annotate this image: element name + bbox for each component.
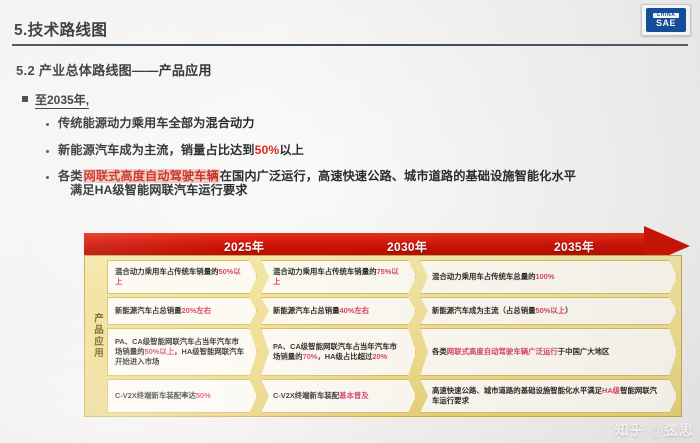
list-item: 新能源汽车成为主流，销量占比达到50%以上 <box>46 142 682 160</box>
timeline-year-2030: 2030年 <box>387 238 427 255</box>
table-cell-r3c3: 各类网联式高度自动驾驶车辆广泛运行于中国广大地区 <box>420 328 677 376</box>
table-cell-r3c2: PA、CA级智能网联汽车占当年汽车市场销量的70%，HA级占比超过20% <box>261 328 416 376</box>
r1c2-pre: 混合动力乘用车占传统车销量的 <box>273 267 376 276</box>
watermark: 知乎 @弦思 <box>614 420 694 440</box>
table-cell-r2c1: 新能源汽车占总销量20%左右 <box>107 297 257 325</box>
r4c3-pre: 高速快速公路、城市道路的基础设施智能化水平满足 <box>432 386 602 395</box>
r1c1-pre: 混合动力乘用车占传统车销量的 <box>115 267 218 276</box>
roadmap-panel: 产品应用 混合动力乘用车占传统车销量的50%以上 混合动力乘用车占传统车销量的7… <box>84 255 682 417</box>
list-item: 传统能源动力乘用车全部为混合动力 <box>46 115 682 133</box>
list-item: 各类网联式高度自动驾驶车辆在国内广泛运行，高速快速公路、城市道路的基础设施智能化… <box>46 168 682 199</box>
bullet-1-pre: 传统能源动力乘用车全部为混合动力 <box>58 116 255 130</box>
r2c2-hl: 40%左右 <box>340 306 370 315</box>
timeline-year-2035: 2035年 <box>554 238 594 255</box>
bullet-text-3: 各类网联式高度自动驾驶车辆在国内广泛运行，高速快速公路、城市道路的基础设施智能化… <box>58 168 576 199</box>
r4c1-pre: C-V2X终端新车装配率达 <box>115 391 196 400</box>
logo-top-text: CHINA <box>653 13 679 18</box>
table-cell-r3c1: PA、CA级智能网联汽车占当年汽车市场销量的50%以上，HA级智能网联汽车开始进… <box>107 328 257 376</box>
square-bullet-icon <box>22 96 28 102</box>
r3c2-hl: 70% <box>303 352 318 361</box>
page-title: 5.技术路线图 <box>14 18 107 40</box>
dot-bullet-icon <box>46 176 49 179</box>
table-cell-r1c1: 混合动力乘用车占传统车销量的50%以上 <box>107 260 257 294</box>
r3c3-pre: 各类 <box>432 347 447 356</box>
r3c3-post: 于中国广大地区 <box>558 347 610 356</box>
r3c3-hl: 网联式高度自动驾驶车辆广泛运行 <box>447 347 558 356</box>
lead-bullet-label: 至2035年, <box>35 91 89 109</box>
r1c3-pre: 混合动力乘用车占传统车总量的 <box>432 272 535 281</box>
r4c2-hl: 基本普及 <box>339 391 369 400</box>
bullet-list: 传统能源动力乘用车全部为混合动力 新能源汽车成为主流，销量占比达到50%以上 各… <box>46 115 682 209</box>
r4c3-hl: HA级 <box>602 386 620 395</box>
timeline-year-2025: 2025年 <box>224 238 264 255</box>
dot-bullet-icon <box>46 150 49 153</box>
logo-badge: CHINA SAE <box>646 8 686 32</box>
r2c3-post: ） <box>565 306 572 315</box>
panel-vertical-label-text: 产品应用 <box>90 313 104 359</box>
table-cell-r2c3: 新能源汽车成为主流（占总销量50%以上） <box>420 297 677 325</box>
table-cell-r1c2: 混合动力乘用车占传统车销量的75%以上 <box>261 260 416 294</box>
table-cell-r2c2: 新能源汽车占总销量40%左右 <box>261 297 416 325</box>
bullet-text-2: 新能源汽车成为主流，销量占比达到50%以上 <box>58 142 304 160</box>
bullet-3-post: 在国内广泛运行，高速快速公路、城市道路的基础设施智能化水平 <box>220 169 576 183</box>
r1c3-hl: 100% <box>535 272 554 281</box>
r2c3-hl: 50%以上 <box>535 306 565 315</box>
table-cell-r4c1: C-V2X终端新车装配率达50% <box>107 379 257 413</box>
logo-bottom-text: SAE <box>656 19 676 28</box>
bullet-2-post: 以上 <box>279 143 304 157</box>
r2c3-pre: 新能源汽车成为主流（占总销量 <box>432 306 535 315</box>
china-sae-logo: CHINA SAE <box>641 4 691 36</box>
bullet-3-continuation: 满足HA级智能网联汽车运行要求 <box>70 182 576 200</box>
page-subtitle: 5.2 产业总体路线图——产品应用 <box>16 60 212 79</box>
r3c1-hl: 50%以上 <box>145 347 175 356</box>
r2c2-pre: 新能源汽车占总销量 <box>273 306 340 315</box>
title-divider <box>12 44 688 46</box>
roadmap-grid: 混合动力乘用车占传统车销量的50%以上 混合动力乘用车占传统车销量的75%以上 … <box>107 260 677 412</box>
r4c1-hl: 50% <box>196 391 211 400</box>
r3c2-hl2: 20% <box>372 352 387 361</box>
bullet-text-1: 传统能源动力乘用车全部为混合动力 <box>58 115 255 133</box>
bullet-2-highlight: 50% <box>255 143 280 157</box>
bullet-2-pre: 新能源汽车成为主流，销量占比达到 <box>58 143 255 157</box>
panel-vertical-label: 产品应用 <box>87 256 107 416</box>
table-cell-r4c3: 高速快速公路、城市道路的基础设施智能化水平满足HA级智能网联汽车运行要求 <box>420 379 677 413</box>
table-cell-r4c2: C-V2X终端新车装配基本普及 <box>261 379 416 413</box>
table-cell-r1c3: 混合动力乘用车占传统车总量的100% <box>420 260 677 294</box>
r2c1-hl: 20%左右 <box>182 306 212 315</box>
slide-canvas: CHINA SAE 5.技术路线图 5.2 产业总体路线图——产品应用 至203… <box>0 0 700 443</box>
r2c1-pre: 新能源汽车占总销量 <box>115 306 182 315</box>
watermark-text: 知乎 @弦思 <box>614 420 694 440</box>
dot-bullet-icon <box>46 123 49 126</box>
r4c2-pre: C-V2X终端新车装配 <box>273 391 339 400</box>
r3c2-post: ，HA级占比超过 <box>317 352 372 361</box>
lead-bullet: 至2035年, <box>22 91 89 109</box>
